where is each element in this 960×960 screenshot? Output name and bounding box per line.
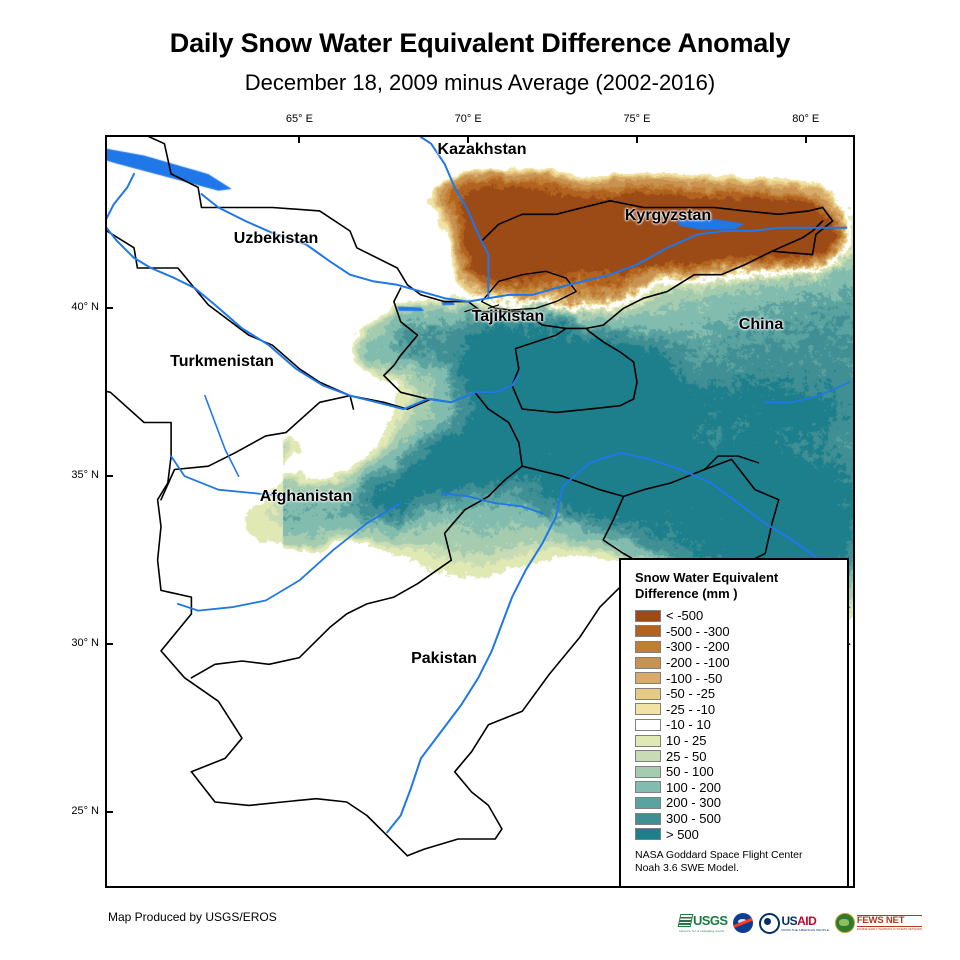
latitude-tick xyxy=(105,307,113,309)
legend-title: Snow Water Equivalent Difference (mm ) xyxy=(635,570,835,602)
legend-label: -50 - -25 xyxy=(666,687,715,700)
usgs-logo-text: USGS xyxy=(693,913,727,928)
legend-row: -500 - -300 xyxy=(635,624,847,640)
fews-net-logo[interactable]: FEWS NET FAMINE EARLY WARNING SYSTEMS NE… xyxy=(835,910,923,936)
legend-label: -300 - -200 xyxy=(666,640,730,653)
longitude-label: 70° E xyxy=(438,113,498,125)
latitude-tick xyxy=(105,811,113,813)
legend-row: -300 - -200 xyxy=(635,639,847,655)
latitude-label: 25° N xyxy=(39,805,99,817)
legend-row: -50 - -25 xyxy=(635,686,847,702)
nasa-logo[interactable] xyxy=(733,910,753,936)
country-border xyxy=(705,456,759,469)
legend-row: -25 - -10 xyxy=(635,702,847,718)
legend-label: > 500 xyxy=(666,828,699,841)
legend-swatch xyxy=(635,750,661,762)
legend-row: 25 - 50 xyxy=(635,748,847,764)
legend-label: 100 - 200 xyxy=(666,781,721,794)
coastline xyxy=(191,772,407,856)
legend-row: 10 - 25 xyxy=(635,733,847,749)
legend-swatch xyxy=(635,672,661,684)
legend-row: < -500 xyxy=(635,608,847,624)
page-subtitle: December 18, 2009 minus Average (2002-20… xyxy=(0,70,960,96)
river xyxy=(205,396,239,477)
country-border xyxy=(107,369,242,772)
country-label-tajikistan: Tajikistan xyxy=(472,308,545,326)
river xyxy=(441,493,542,513)
legend-label: 50 - 100 xyxy=(666,765,714,778)
legend-row: 200 - 300 xyxy=(635,795,847,811)
usgs-logo[interactable]: USGS science for a changing world xyxy=(679,910,727,936)
legend-swatch xyxy=(635,719,661,731)
legend-swatch xyxy=(635,610,661,622)
legend-row: -200 - -100 xyxy=(635,655,847,671)
longitude-tick xyxy=(636,135,638,143)
legend-swatch xyxy=(635,781,661,793)
river xyxy=(107,174,134,224)
river xyxy=(107,224,519,409)
country-border xyxy=(191,392,522,678)
country-border xyxy=(482,271,577,310)
legend-title-line1: Snow Water Equivalent xyxy=(635,570,835,586)
legend-label: 10 - 25 xyxy=(666,734,706,747)
country-label-turkmenistan: Turkmenistan xyxy=(170,353,274,371)
country-label-afghanistan: Afghanistan xyxy=(260,488,352,506)
legend-swatch xyxy=(635,688,661,700)
latitude-tick xyxy=(105,475,113,477)
country-label-kyrgyzstan: Kyrgyzstan xyxy=(625,207,711,225)
page-title: Daily Snow Water Equivalent Difference A… xyxy=(0,28,960,59)
legend-label: 25 - 50 xyxy=(666,750,706,763)
legend-row: > 500 xyxy=(635,826,847,842)
usaid-logo[interactable]: USAID FROM THE AMERICAN PEOPLE xyxy=(759,910,828,936)
country-border xyxy=(384,288,566,402)
legend-label: -500 - -300 xyxy=(666,625,730,638)
river xyxy=(178,503,401,610)
legend-label: -200 - -100 xyxy=(666,656,730,669)
river xyxy=(421,137,489,298)
legend-swatch xyxy=(635,813,661,825)
legend-label: < -500 xyxy=(666,609,703,622)
latitude-label: 40° N xyxy=(39,301,99,313)
usaid-logo-tagline: FROM THE AMERICAN PEOPLE xyxy=(781,928,828,932)
longitude-tick xyxy=(805,135,807,143)
legend-swatch xyxy=(635,735,661,747)
legend-label: 300 - 500 xyxy=(666,812,721,825)
usaid-seal-icon xyxy=(759,913,780,934)
legend-class-list: < -500-500 - -300-300 - -200-200 - -100-… xyxy=(635,608,847,842)
fews-globe-icon xyxy=(835,913,855,933)
legend-swatch xyxy=(635,797,661,809)
legend-row: 100 - 200 xyxy=(635,780,847,796)
usgs-wave-icon xyxy=(678,914,694,927)
country-border xyxy=(407,496,647,855)
legend-row: 300 - 500 xyxy=(635,811,847,827)
country-label-uzbekistan: Uzbekistan xyxy=(234,230,318,248)
country-label-pakistan: Pakistan xyxy=(411,650,477,668)
legend-label: -100 - -50 xyxy=(666,672,722,685)
latitude-tick xyxy=(105,643,113,645)
fews-logo-text: FEWS NET xyxy=(857,915,923,927)
legend-row: -100 - -50 xyxy=(635,670,847,686)
legend-title-line2: Difference (mm ) xyxy=(635,586,835,602)
legend-swatch xyxy=(635,641,661,653)
legend-swatch xyxy=(635,625,661,637)
agency-logos: USGS science for a changing world USAID … xyxy=(679,908,922,938)
legend-swatch xyxy=(635,703,661,715)
longitude-label: 75° E xyxy=(607,113,667,125)
legend-footer-line1: NASA Goddard Space Flight Center xyxy=(635,849,840,862)
legend-footer: NASA Goddard Space Flight Center Noah 3.… xyxy=(635,849,840,875)
legend-label: 200 - 300 xyxy=(666,796,721,809)
longitude-label: 80° E xyxy=(776,113,836,125)
map-credit: Map Produced by USGS/EROS xyxy=(108,910,277,924)
legend-swatch xyxy=(635,657,661,669)
legend-row: 50 - 100 xyxy=(635,764,847,780)
latitude-label: 35° N xyxy=(39,469,99,481)
nasa-meatball-icon xyxy=(733,913,753,933)
legend-swatch xyxy=(635,766,661,778)
map-legend: Snow Water Equivalent Difference (mm ) <… xyxy=(619,558,849,888)
longitude-label: 65° E xyxy=(269,113,329,125)
legend-label: -25 - -10 xyxy=(666,703,715,716)
country-label-china: China xyxy=(739,316,783,334)
legend-label: -10 - 10 xyxy=(666,718,711,731)
usaid-logo-text: USAID xyxy=(781,914,828,928)
latitude-label: 30° N xyxy=(39,637,99,649)
longitude-tick xyxy=(298,135,300,143)
usgs-logo-tagline: science for a changing world xyxy=(679,929,724,933)
country-border xyxy=(107,137,482,312)
country-border xyxy=(512,328,637,412)
fews-logo-tagline: FAMINE EARLY WARNING SYSTEMS NETWORK xyxy=(857,927,923,931)
legend-swatch xyxy=(635,828,661,840)
legend-footer-line2: Noah 3.6 SWE Model. xyxy=(635,862,840,875)
country-label-kazakhstan: Kazakhstan xyxy=(438,141,527,159)
river xyxy=(765,382,849,402)
legend-row: -10 - 10 xyxy=(635,717,847,733)
